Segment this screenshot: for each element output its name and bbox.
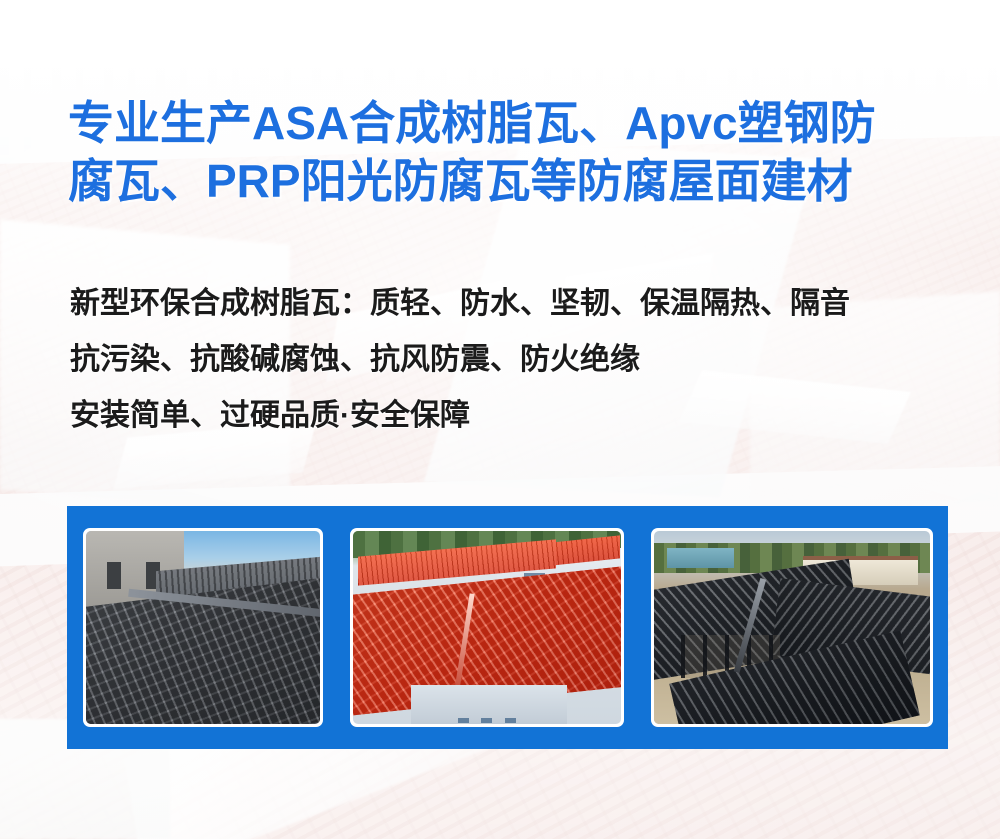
subheadline-line-2: 抗污染、抗酸碱腐蚀、抗风防震、防火绝缘 — [70, 332, 960, 388]
photo2-front-window-1 — [458, 718, 469, 723]
red-resin-tile-roof-photo — [353, 531, 621, 724]
subheadline-block: 新型环保合成树脂瓦：质轻、防水、坚韧、保温隔热、隔音 抗污染、抗酸碱腐蚀、抗风防… — [70, 276, 960, 444]
photo-frame-1[interactable] — [83, 528, 323, 727]
subheadline-line-3: 安装简单、过硬品质·安全保障 — [70, 388, 960, 444]
photo-gallery-panel — [67, 506, 948, 749]
black-resin-tile-pavilion-roof-photo — [654, 531, 930, 724]
dark-grey-resin-tile-roof-photo — [86, 531, 320, 724]
photo2-front-window-2 — [481, 718, 492, 723]
headline-line-1: 专业生产ASA合成树脂瓦、Apvc塑钢防 — [68, 94, 948, 152]
subheadline-line-1: 新型环保合成树脂瓦：质轻、防水、坚韧、保温隔热、隔音 — [70, 276, 960, 332]
photo1-window-1 — [107, 562, 121, 589]
photo2-front-wall — [411, 685, 566, 724]
photo-frame-3[interactable] — [651, 528, 933, 727]
headline-line-2: 腐瓦、PRP阳光防腐瓦等防腐屋面建材 — [68, 152, 948, 210]
photo2-front-window-3 — [505, 718, 516, 723]
banner-content: 专业生产ASA合成树脂瓦、Apvc塑钢防 腐瓦、PRP阳光防腐瓦等防腐屋面建材 … — [0, 0, 1000, 839]
photo3-blue-building — [667, 548, 733, 567]
product-promo-banner: 专业生产ASA合成树脂瓦、Apvc塑钢防 腐瓦、PRP阳光防腐瓦等防腐屋面建材 … — [0, 0, 1000, 839]
headline-block: 专业生产ASA合成树脂瓦、Apvc塑钢防 腐瓦、PRP阳光防腐瓦等防腐屋面建材 — [68, 94, 948, 210]
photo-frame-2[interactable] — [350, 528, 624, 727]
